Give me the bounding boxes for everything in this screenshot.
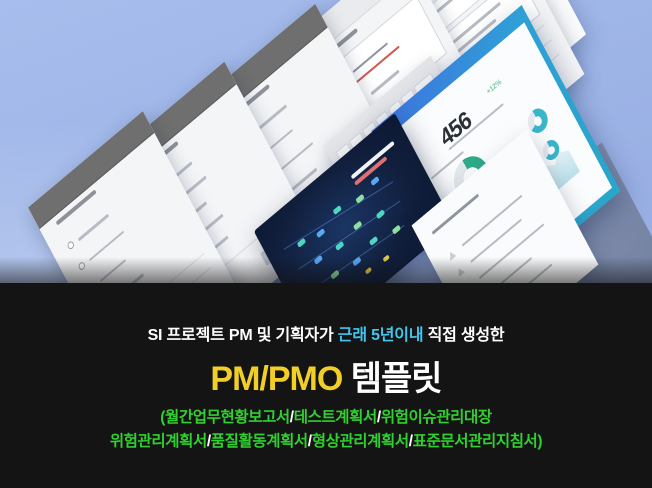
doc-item: 형상관리계획서 [312, 433, 409, 450]
promo-banner: 456 +12% [0, 0, 652, 488]
title-rest: 템플릿 [342, 360, 441, 398]
doc-item: 테스트계획서 [294, 409, 377, 426]
subtitle-lead: SI 프로젝트 PM 및 기획자가 [148, 327, 338, 344]
doc-item: 품질활동계획서 [211, 433, 308, 450]
text-band: SI 프로젝트 PM 및 기획자가 근래 5년이내 직접 생성한 PM/PMO … [0, 283, 652, 488]
stat-unit: +12% [486, 79, 503, 97]
subtitle: SI 프로젝트 PM 및 기획자가 근래 5년이내 직접 생성한 [0, 321, 652, 345]
doc-item: 월간업무현황보고서 [165, 409, 290, 426]
radio-button [66, 240, 75, 251]
document-list-line-1: (월간업무현황보고서/테스트계획서/위험이슈관리대장 [0, 405, 652, 427]
hero-bottom-fade [0, 257, 652, 283]
doc-item: 위험이슈관리대장 [381, 409, 492, 426]
doc-item: 표준문서관리지침서 [413, 433, 538, 450]
subtitle-trail: 직접 생성한 [423, 327, 504, 344]
hero-collage: 456 +12% [0, 0, 652, 283]
title-accent: PM/PMO [210, 360, 342, 398]
doc-item: 위험관리계획서 [110, 433, 207, 450]
subtitle-highlight: 근래 5년이내 [338, 327, 424, 344]
page-title: PM/PMO 템플릿 [0, 351, 652, 400]
document-list-line-2: 위험관리계획서/품질활동계획서/형상관리계획서/표준문서관리지침서) [0, 429, 652, 451]
close-paren: ) [537, 433, 542, 450]
highlight-bar [351, 140, 395, 179]
